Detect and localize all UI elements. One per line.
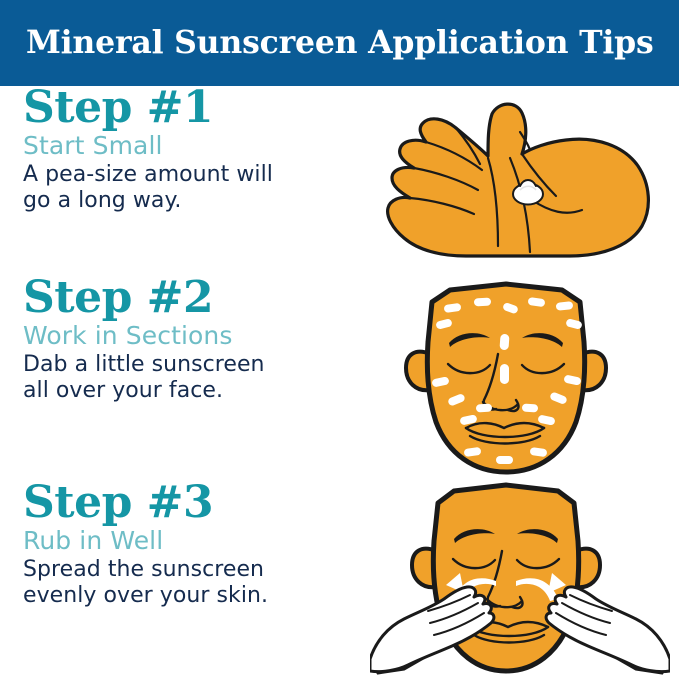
- step-3-text: Step #3 Rub in Well Spread the sunscreen…: [23, 481, 353, 610]
- step-row-1: Step #1 Start Small A pea-size amount wi…: [0, 86, 679, 276]
- step-row-2: Step #2 Work in Sections Dab a little su…: [0, 276, 679, 481]
- right-hand-icon: [546, 587, 670, 673]
- step-2-text: Step #2 Work in Sections Dab a little su…: [23, 276, 353, 405]
- step-1-illustration: [370, 86, 679, 276]
- step-3-heading: Step #3: [23, 481, 353, 525]
- open-palm-icon: [370, 86, 670, 271]
- header-banner: Mineral Sunscreen Application Tips: [0, 0, 679, 86]
- step-3-body-line-2: evenly over your skin.: [23, 583, 353, 609]
- page-title: Mineral Sunscreen Application Tips: [26, 27, 654, 59]
- step-2-heading: Step #2: [23, 276, 353, 320]
- step-2-body-line-1: Dab a little sunscreen: [23, 352, 353, 378]
- face-with-hands-icon: [370, 481, 670, 679]
- step-1-subheading: Start Small: [23, 132, 353, 160]
- step-1-heading: Step #1: [23, 86, 353, 130]
- step-1-body-line-2: go a long way.: [23, 188, 353, 214]
- step-2-illustration: [370, 276, 679, 481]
- step-3-body: Spread the sunscreen evenly over your sk…: [23, 557, 353, 610]
- infographic-page: Mineral Sunscreen Application Tips Step …: [0, 0, 679, 679]
- step-3-subheading: Rub in Well: [23, 527, 353, 555]
- step-2-body-line-2: all over your face.: [23, 378, 353, 404]
- step-row-3: Step #3 Rub in Well Spread the sunscreen…: [0, 481, 679, 679]
- steps-container: Step #1 Start Small A pea-size amount wi…: [0, 86, 679, 679]
- step-1-body-line-1: A pea-size amount will: [23, 162, 353, 188]
- step-1-text: Step #1 Start Small A pea-size amount wi…: [23, 86, 353, 215]
- step-2-body: Dab a little sunscreen all over your fac…: [23, 352, 353, 405]
- step-3-body-line-1: Spread the sunscreen: [23, 557, 353, 583]
- face-with-dots-icon: [370, 276, 670, 481]
- step-3-illustration: [370, 481, 679, 679]
- step-2-subheading: Work in Sections: [23, 322, 353, 350]
- step-1-body: A pea-size amount will go a long way.: [23, 162, 353, 215]
